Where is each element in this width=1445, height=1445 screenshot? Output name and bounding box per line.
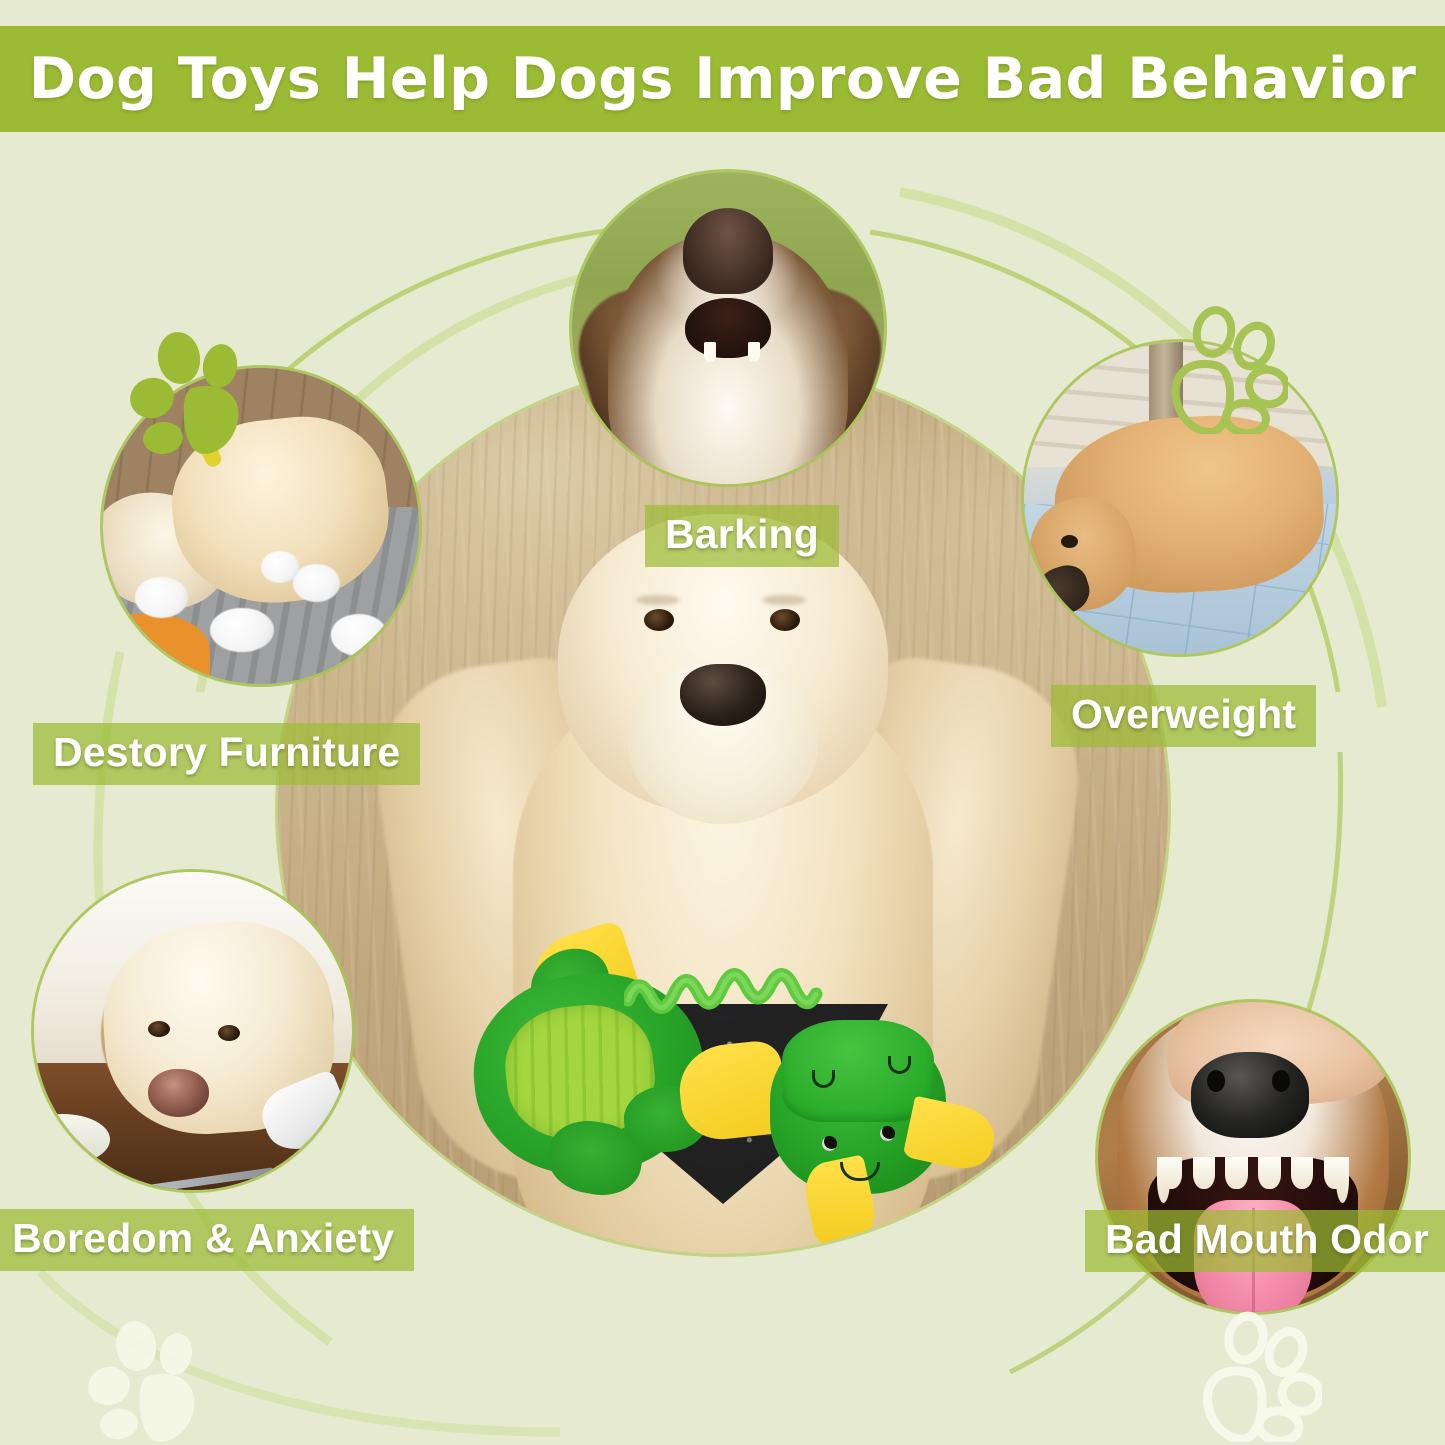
odor-nostril-right xyxy=(1272,1070,1290,1092)
odor-dog-nose xyxy=(1191,1052,1309,1139)
header-banner: Dog Toys Help Dogs Improve Bad Behavior xyxy=(0,26,1445,132)
odor-tooth xyxy=(1291,1157,1313,1189)
stuffing-tuft xyxy=(293,564,340,602)
paw-print-icon xyxy=(88,1318,206,1444)
label-barking: Barking xyxy=(645,505,839,567)
retriever-brow-right xyxy=(762,595,806,605)
paw-print-icon xyxy=(130,328,250,456)
retriever-nose xyxy=(680,664,766,726)
stuffing-tuft xyxy=(261,551,299,583)
turtle-right-head-cap xyxy=(782,1020,934,1122)
barking-dog-snout xyxy=(683,208,773,294)
barking-dog-tooth-left xyxy=(704,342,716,362)
retriever-eye-right xyxy=(770,609,800,631)
destroy-orange-mat xyxy=(103,614,210,684)
odor-teeth-row xyxy=(1160,1157,1346,1189)
label-bad-mouth-odor: Bad Mouth Odor xyxy=(1085,1210,1445,1272)
page-title: Dog Toys Help Dogs Improve Bad Behavior xyxy=(29,46,1417,112)
odor-tooth xyxy=(1193,1157,1215,1189)
plush-turtle-toy xyxy=(474,924,994,1234)
odor-tooth xyxy=(1324,1157,1346,1189)
boredom-dog-nose xyxy=(148,1069,208,1117)
callout-photo-barking xyxy=(572,172,884,484)
label-overweight: Overweight xyxy=(1051,685,1316,747)
label-boredom-anxiety: Boredom & Anxiety xyxy=(0,1209,414,1271)
stuffing-tuft xyxy=(135,577,189,618)
paw-print-icon xyxy=(1198,1310,1322,1442)
boredom-dog-eye-right xyxy=(218,1025,240,1041)
turtle-eye-left xyxy=(822,1136,837,1151)
stuffing-tuft xyxy=(210,608,273,652)
retriever-brow-left xyxy=(636,595,680,605)
turtle-eye-right xyxy=(880,1126,895,1141)
infographic-poster: Dog Toys Help Dogs Improve Bad Behavior xyxy=(0,0,1445,1445)
top-strip xyxy=(0,0,1445,26)
paw-print-icon xyxy=(1166,304,1288,434)
label-destroy-furniture: Destory Furniture xyxy=(33,723,420,785)
odor-tooth xyxy=(1160,1157,1182,1189)
content-stage: Barking Destory Furniture Overweight Bor… xyxy=(0,132,1445,1445)
odor-tooth xyxy=(1225,1157,1247,1189)
callout-photo-boredom xyxy=(34,872,352,1190)
odor-tooth xyxy=(1258,1157,1280,1189)
odor-nostril-left xyxy=(1207,1070,1225,1092)
stuffing-tuft xyxy=(331,614,388,655)
toy-rope-connector xyxy=(624,938,856,1034)
barking-dog-tooth-right xyxy=(748,342,760,362)
retriever-eye-left xyxy=(644,609,674,631)
